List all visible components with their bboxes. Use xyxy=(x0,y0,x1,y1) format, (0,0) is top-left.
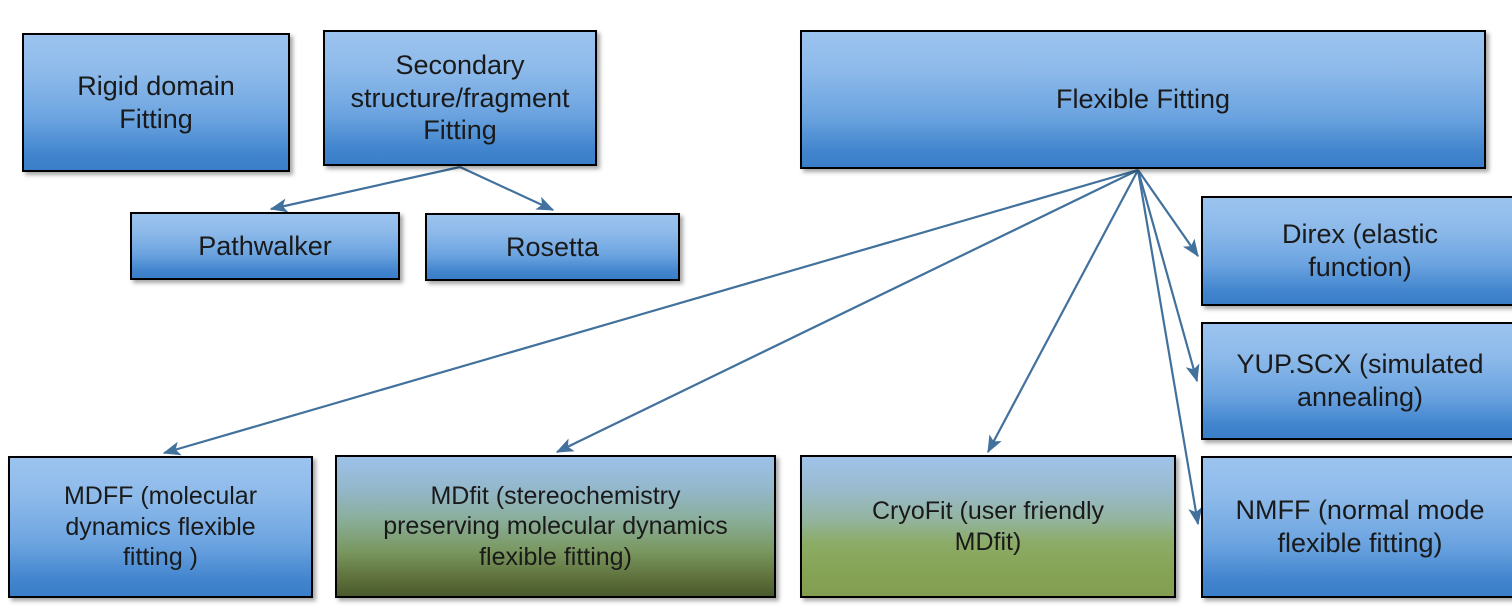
node-cryofit[interactable]: CryoFit (user friendlyMDfit) xyxy=(800,455,1176,598)
node-label-rosetta: Rosetta xyxy=(435,231,670,264)
node-yup-scx[interactable]: YUP.SCX (simulatedannealing) xyxy=(1201,322,1512,440)
node-rigid-domain-fitting[interactable]: Rigid domainFitting xyxy=(22,33,290,172)
node-label-pathwalker: Pathwalker xyxy=(140,230,390,263)
node-label-secondary-structure-fragment-fitting: Secondarystructure/fragmentFitting xyxy=(333,49,587,148)
node-rosetta[interactable]: Rosetta xyxy=(425,213,680,281)
arrow-ssf-to-rosetta xyxy=(460,167,553,210)
arrow-ssf-to-pathwalker xyxy=(271,167,460,209)
node-label-cryofit: CryoFit (user friendlyMDfit) xyxy=(810,496,1166,557)
arrow-ff-to-yupscx xyxy=(1138,170,1197,381)
arrow-ff-to-cryofit xyxy=(988,170,1138,452)
node-mdff[interactable]: MDFF (moleculardynamics flexiblefitting … xyxy=(8,456,313,598)
node-label-mdfit: MDfit (stereochemistrypreserving molecul… xyxy=(345,481,766,573)
node-mdfit[interactable]: MDfit (stereochemistrypreserving molecul… xyxy=(335,455,776,598)
node-pathwalker[interactable]: Pathwalker xyxy=(130,212,400,280)
node-label-flexible-fitting: Flexible Fitting xyxy=(810,83,1476,116)
node-secondary-structure-fragment-fitting[interactable]: Secondarystructure/fragmentFitting xyxy=(323,30,597,166)
node-direx[interactable]: Direx (elasticfunction) xyxy=(1201,196,1512,306)
node-flexible-fitting[interactable]: Flexible Fitting xyxy=(800,30,1486,169)
node-label-nmff: NMFF (normal modeflexible fitting) xyxy=(1211,494,1509,560)
node-label-mdff: MDFF (moleculardynamics flexiblefitting … xyxy=(18,481,303,573)
arrow-ff-to-direx xyxy=(1138,170,1198,256)
node-label-rigid-domain-fitting: Rigid domainFitting xyxy=(32,70,280,136)
node-nmff[interactable]: NMFF (normal modeflexible fitting) xyxy=(1201,456,1512,598)
node-label-yup-scx: YUP.SCX (simulatedannealing) xyxy=(1211,348,1509,414)
node-label-direx: Direx (elasticfunction) xyxy=(1211,218,1509,284)
diagram-canvas: Rigid domainFittingSecondarystructure/fr… xyxy=(0,0,1512,610)
